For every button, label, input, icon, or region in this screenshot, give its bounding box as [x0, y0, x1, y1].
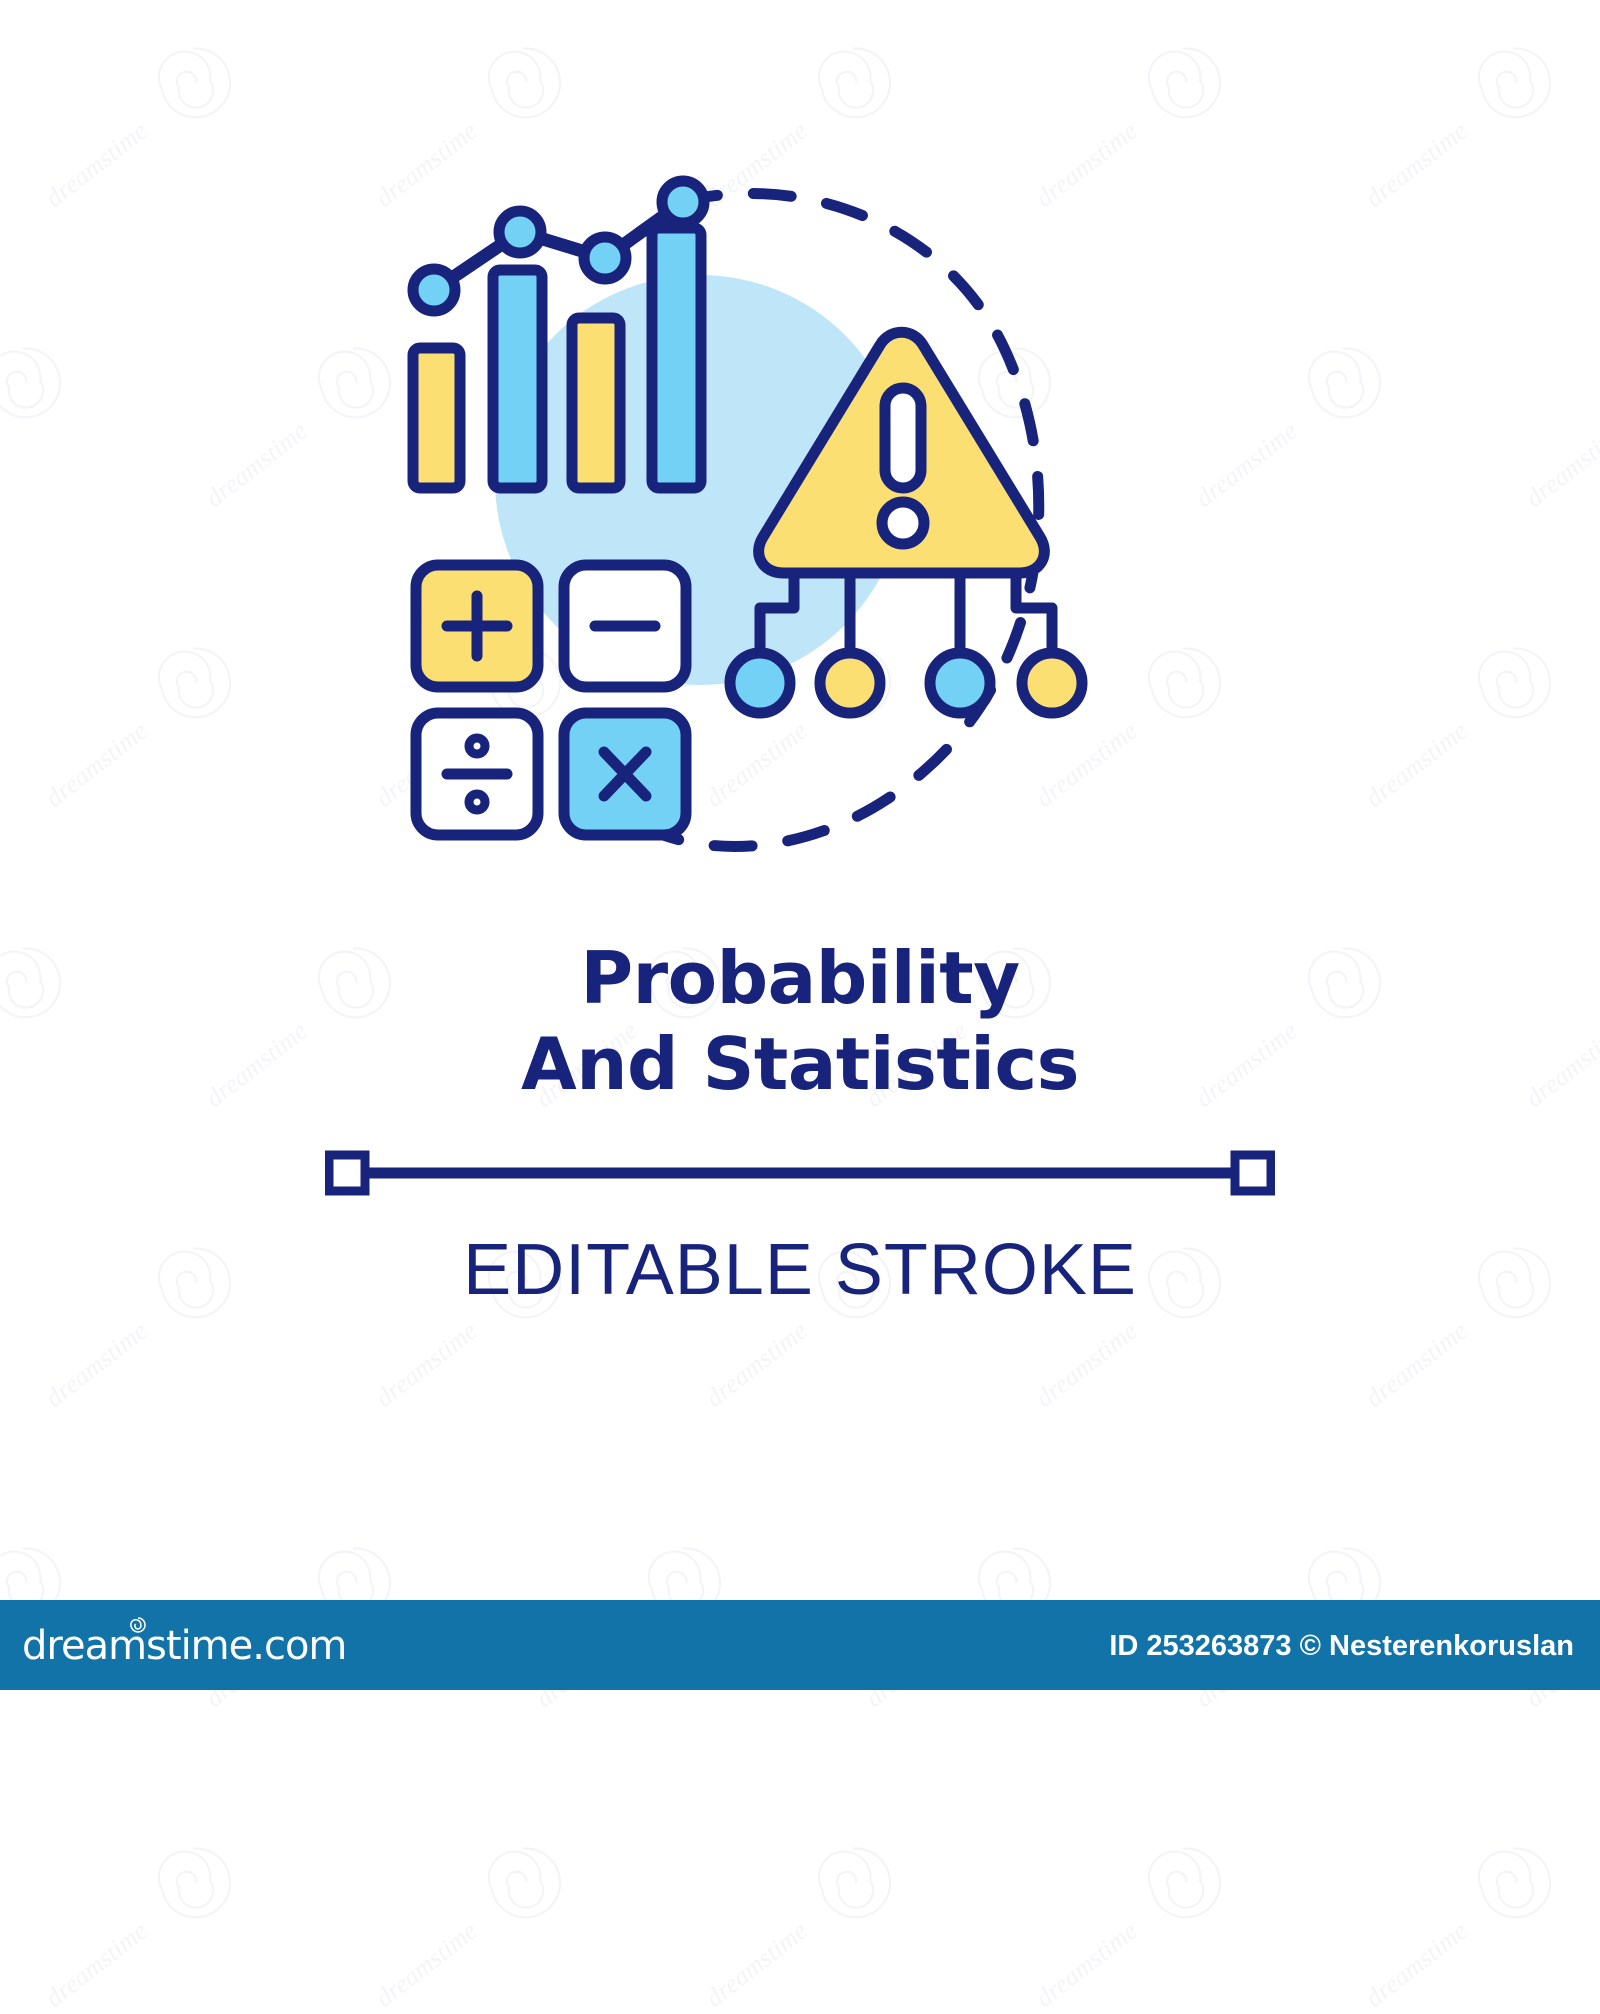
concept-illustration [380, 150, 1100, 890]
footer-bar: dreamstime.com ID 253263873 © Nesterenko… [0, 1600, 1600, 1690]
watermark-text: dreamstime [1360, 1316, 1473, 1414]
tree-node-2 [820, 653, 880, 713]
watermark-spiral-icon [0, 340, 66, 426]
stroke-handle-left[interactable] [329, 1155, 365, 1191]
watermark-text: dreamstime [40, 1916, 153, 2014]
watermark-text: dreamstime [1520, 416, 1600, 514]
stroke-handle-right[interactable] [1235, 1155, 1271, 1191]
registered-spiral-icon [127, 1614, 149, 1636]
editable-stroke-widget: EDITABLE STROKE [0, 1150, 1600, 1310]
watermark-spiral-icon [1140, 1840, 1226, 1926]
stroke-rule [325, 1150, 1275, 1196]
tree-node-4 [1022, 653, 1082, 713]
watermark-text: dreamstime [1360, 116, 1473, 214]
watermark-spiral-icon [150, 640, 236, 726]
tree-node-3 [930, 653, 990, 713]
watermark-text: dreamstime [700, 1916, 813, 2014]
watermark-spiral-icon [1470, 640, 1556, 726]
dreamstime-logo[interactable]: dreamstime.com [22, 1622, 346, 1670]
watermark-text: dreamstime [370, 1916, 483, 2014]
line-chart-marker [413, 269, 455, 311]
watermark-text: dreamstime [1360, 1916, 1473, 2014]
bar-1 [413, 348, 460, 488]
editable-stroke-label: EDITABLE STROKE [0, 1230, 1600, 1310]
watermark-spiral-icon [1470, 1840, 1556, 1926]
watermark-text: dreamstime [1030, 1316, 1143, 1414]
line-chart-marker [662, 181, 704, 223]
warning-exclamation-dot [882, 502, 924, 544]
watermark-spiral-icon [810, 1840, 896, 1926]
warning-exclamation-bar [885, 388, 921, 488]
watermark-text: dreamstime [1030, 1916, 1143, 2014]
title-line-1: Probability [0, 935, 1600, 1021]
bar-2 [493, 270, 542, 488]
image-credit: ID 253263873 © Nesterenkoruslan [1109, 1628, 1574, 1664]
tree-node-1 [730, 653, 790, 713]
watermark-spiral-icon [480, 1840, 566, 1926]
watermark-spiral-icon [1470, 40, 1556, 126]
bar-4 [652, 228, 701, 488]
watermark-spiral-icon [150, 1840, 236, 1926]
watermark-text: dreamstime [370, 1316, 483, 1414]
line-chart-marker [499, 211, 541, 253]
watermark-spiral-icon [150, 40, 236, 126]
watermark-text: dreamstime [200, 416, 313, 514]
watermark-text: dreamstime [1360, 716, 1473, 814]
watermark-text: dreamstime [40, 1316, 153, 1414]
watermark-spiral-icon [480, 40, 566, 126]
title-line-2: And Statistics [0, 1021, 1600, 1107]
bar-3 [572, 318, 620, 488]
watermark-text: dreamstime [40, 716, 153, 814]
line-chart-marker [584, 237, 626, 279]
watermark-text: dreamstime [1190, 416, 1303, 514]
watermark-spiral-icon [1140, 640, 1226, 726]
watermark-spiral-icon [1140, 40, 1226, 126]
watermark-spiral-icon [810, 40, 896, 126]
watermark-text: dreamstime [40, 116, 153, 214]
image-canvas: dreamstimedreamstimedreamstimedreamstime… [0, 0, 1600, 1690]
line-chart-path [434, 202, 683, 290]
watermark-spiral-icon [1300, 340, 1386, 426]
page-title: Probability And Statistics [0, 935, 1600, 1107]
watermark-text: dreamstime [700, 1316, 813, 1414]
